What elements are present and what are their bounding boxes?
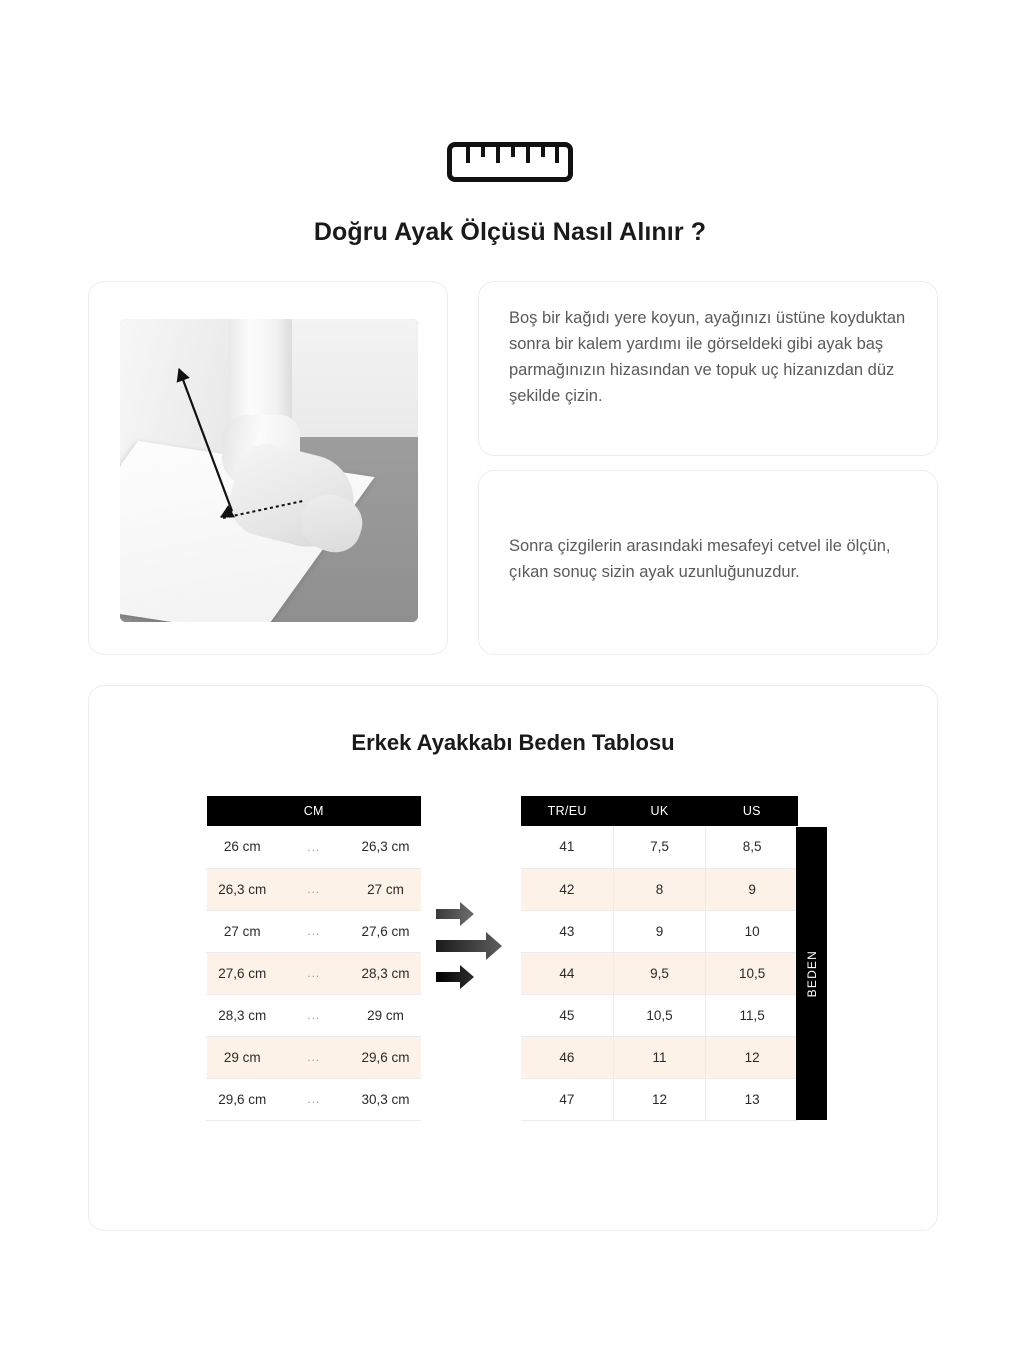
cm-high-value: 29 cm	[350, 994, 422, 1036]
cm-low-value: 26,3 cm	[207, 868, 279, 910]
ruler-icon-container	[0, 142, 1020, 182]
table-row: 27 cm...27,6 cm	[207, 910, 422, 952]
size-tr-eu-value: 43	[521, 910, 613, 952]
instruction-card-1: Boş bir kağıdı yere koyun, ayağınızı üst…	[478, 281, 938, 456]
size-tr-eu-value: 44	[521, 952, 613, 994]
size-us-value: 13	[706, 1078, 798, 1120]
cm-table: CM 26 cm...26,3 cm26,3 cm...27 cm27 cm..…	[206, 796, 421, 1121]
instruction-text-1: Boş bir kağıdı yere koyun, ayağınızı üst…	[509, 305, 907, 409]
transition-arrows-icon	[434, 900, 524, 995]
size-us-value: 8,5	[706, 826, 798, 868]
size-uk-value: 10,5	[613, 994, 705, 1036]
cm-low-value: 26 cm	[207, 826, 279, 868]
cm-high-value: 30,3 cm	[350, 1078, 422, 1120]
size-table-header-row: TR/EU UK US	[521, 796, 798, 826]
table-row: 4510,511,5	[521, 994, 798, 1036]
size-table-body: 417,58,5428943910449,510,54510,511,54611…	[521, 826, 798, 1120]
size-uk-value: 11	[613, 1036, 705, 1078]
table-row: 26 cm...26,3 cm	[207, 826, 422, 868]
size-us-value: 12	[706, 1036, 798, 1078]
table-row: 461112	[521, 1036, 798, 1078]
cm-low-value: 27,6 cm	[207, 952, 279, 994]
size-tr-eu-value: 45	[521, 994, 613, 1036]
cm-table-header-row: CM	[207, 796, 422, 826]
ruler-tick	[481, 147, 485, 157]
cm-separator: ...	[278, 994, 350, 1036]
cm-high-value: 27,6 cm	[350, 910, 422, 952]
size-chart-card: Erkek Ayakkabı Beden Tablosu CM 26 cm...…	[88, 685, 938, 1231]
ruler-tick	[541, 147, 545, 157]
size-table-header-us: US	[706, 796, 798, 826]
table-row: 417,58,5	[521, 826, 798, 868]
photo-card	[88, 281, 448, 655]
cm-high-value: 28,3 cm	[350, 952, 422, 994]
beden-side-label: BEDEN	[796, 827, 827, 1120]
size-uk-value: 12	[613, 1078, 705, 1120]
size-uk-value: 9	[613, 910, 705, 952]
instructions-section: Boş bir kağıdı yere koyun, ayağınızı üst…	[88, 281, 938, 655]
cm-high-value: 26,3 cm	[350, 826, 422, 868]
cm-separator: ...	[278, 1036, 350, 1078]
cm-low-value: 29,6 cm	[207, 1078, 279, 1120]
table-row: 4289	[521, 868, 798, 910]
table-row: 471213	[521, 1078, 798, 1120]
table-row: 29 cm...29,6 cm	[207, 1036, 422, 1078]
size-uk-value: 9,5	[613, 952, 705, 994]
size-table-header-uk: UK	[613, 796, 705, 826]
size-uk-value: 8	[613, 868, 705, 910]
size-table: TR/EU UK US 417,58,5428943910449,510,545…	[521, 796, 798, 1121]
size-uk-value: 7,5	[613, 826, 705, 868]
ruler-tick	[466, 147, 470, 163]
table-row: 28,3 cm...29 cm	[207, 994, 422, 1036]
ruler-tick	[555, 147, 559, 163]
cm-separator: ...	[278, 1078, 350, 1120]
ruler-icon	[447, 142, 573, 182]
instruction-text-2: Sonra çizgilerin arasındaki mesafeyi cet…	[509, 533, 907, 585]
cm-high-value: 27 cm	[350, 868, 422, 910]
cm-low-value: 28,3 cm	[207, 994, 279, 1036]
ruler-tick	[496, 147, 500, 163]
table-row: 29,6 cm...30,3 cm	[207, 1078, 422, 1120]
beden-label-text: BEDEN	[805, 950, 819, 997]
size-tr-eu-value: 41	[521, 826, 613, 868]
size-tr-eu-value: 46	[521, 1036, 613, 1078]
cm-separator: ...	[278, 910, 350, 952]
size-chart-title: Erkek Ayakkabı Beden Tablosu	[89, 730, 937, 756]
table-row: 26,3 cm...27 cm	[207, 868, 422, 910]
foot-measurement-photo	[120, 319, 418, 622]
cm-high-value: 29,6 cm	[350, 1036, 422, 1078]
cm-low-value: 29 cm	[207, 1036, 279, 1078]
table-row: 43910	[521, 910, 798, 952]
cm-separator: ...	[278, 952, 350, 994]
cm-low-value: 27 cm	[207, 910, 279, 952]
size-table-header-tr-eu: TR/EU	[521, 796, 613, 826]
ruler-tick	[511, 147, 515, 157]
size-us-value: 11,5	[706, 994, 798, 1036]
size-us-value: 10,5	[706, 952, 798, 994]
size-tr-eu-value: 47	[521, 1078, 613, 1120]
table-row: 27,6 cm...28,3 cm	[207, 952, 422, 994]
size-us-value: 10	[706, 910, 798, 952]
cm-separator: ...	[278, 868, 350, 910]
size-us-value: 9	[706, 868, 798, 910]
table-row: 449,510,5	[521, 952, 798, 994]
instruction-card-2: Sonra çizgilerin arasındaki mesafeyi cet…	[478, 470, 938, 655]
cm-table-header: CM	[207, 796, 422, 826]
ruler-tick	[526, 147, 530, 163]
size-tr-eu-value: 42	[521, 868, 613, 910]
size-guide-page: Doğru Ayak Ölçüsü Nasıl Alınır ?	[0, 0, 1020, 1360]
cm-separator: ...	[278, 826, 350, 868]
cm-table-body: 26 cm...26,3 cm26,3 cm...27 cm27 cm...27…	[207, 826, 422, 1120]
page-title: Doğru Ayak Ölçüsü Nasıl Alınır ?	[0, 218, 1020, 247]
